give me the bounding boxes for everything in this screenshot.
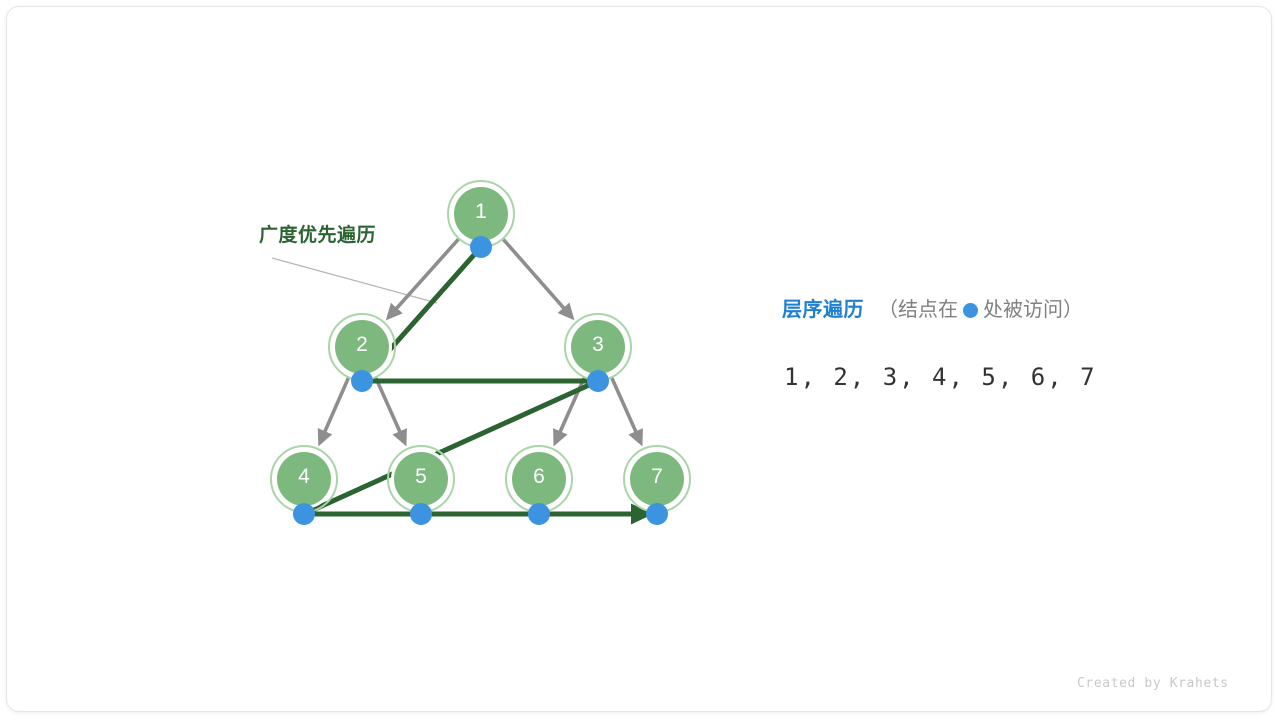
tree-node-5[interactable]: [388, 446, 454, 512]
visit-dot-5[interactable]: [410, 503, 432, 525]
legend-note-after: 处被访问）: [983, 300, 1083, 320]
tree-edge-n2-n4: [320, 378, 348, 442]
traversal-sequence: 1, 2, 3, 4, 5, 6, 7: [784, 363, 1097, 391]
node-fill-3: [571, 320, 625, 374]
tree-edge-n1-n2: [389, 239, 459, 317]
node-fill-1: [454, 187, 508, 241]
visit-dot-1[interactable]: [470, 236, 492, 258]
leader-line: [272, 258, 437, 303]
node-fill-7: [630, 452, 684, 506]
tree-node-7[interactable]: [624, 446, 690, 512]
legend-note-before: （结点在: [878, 300, 958, 320]
tree-edge-n3-n7: [612, 378, 641, 442]
legend-title: 层序遍历: [782, 300, 864, 320]
tree-edge-n2-n5: [376, 378, 405, 442]
label-leader-line: [272, 258, 437, 303]
visit-dot-4[interactable]: [293, 503, 315, 525]
footer-credit: Created by Krahets: [1077, 676, 1229, 691]
node-fill-4: [277, 452, 331, 506]
node-fill-6: [512, 452, 566, 506]
tree-node-6[interactable]: [506, 446, 572, 512]
tree-node-4[interactable]: [271, 446, 337, 512]
visit-dot-2[interactable]: [351, 370, 373, 392]
visit-dot-3[interactable]: [587, 370, 609, 392]
bfs-annotation-label: 广度优先遍历: [259, 220, 376, 247]
binary-tree-diagram: [0, 0, 1280, 720]
legend-heading-row: 层序遍历 （结点在 处被访问）: [782, 300, 1202, 320]
legend-panel: 层序遍历 （结点在 处被访问）: [782, 300, 1202, 320]
visit-dot-7[interactable]: [646, 503, 668, 525]
screenshot-root: 1234567 广度优先遍历 层序遍历 （结点在 处被访问） 1, 2, 3, …: [0, 0, 1280, 720]
node-fill-5: [394, 452, 448, 506]
node-fill-2: [335, 320, 389, 374]
visit-dot-icon: [963, 303, 978, 318]
visit-dot-6[interactable]: [528, 503, 550, 525]
tree-edge-n1-n3: [503, 240, 571, 317]
legend-note: （结点在 处被访问）: [878, 300, 1083, 320]
